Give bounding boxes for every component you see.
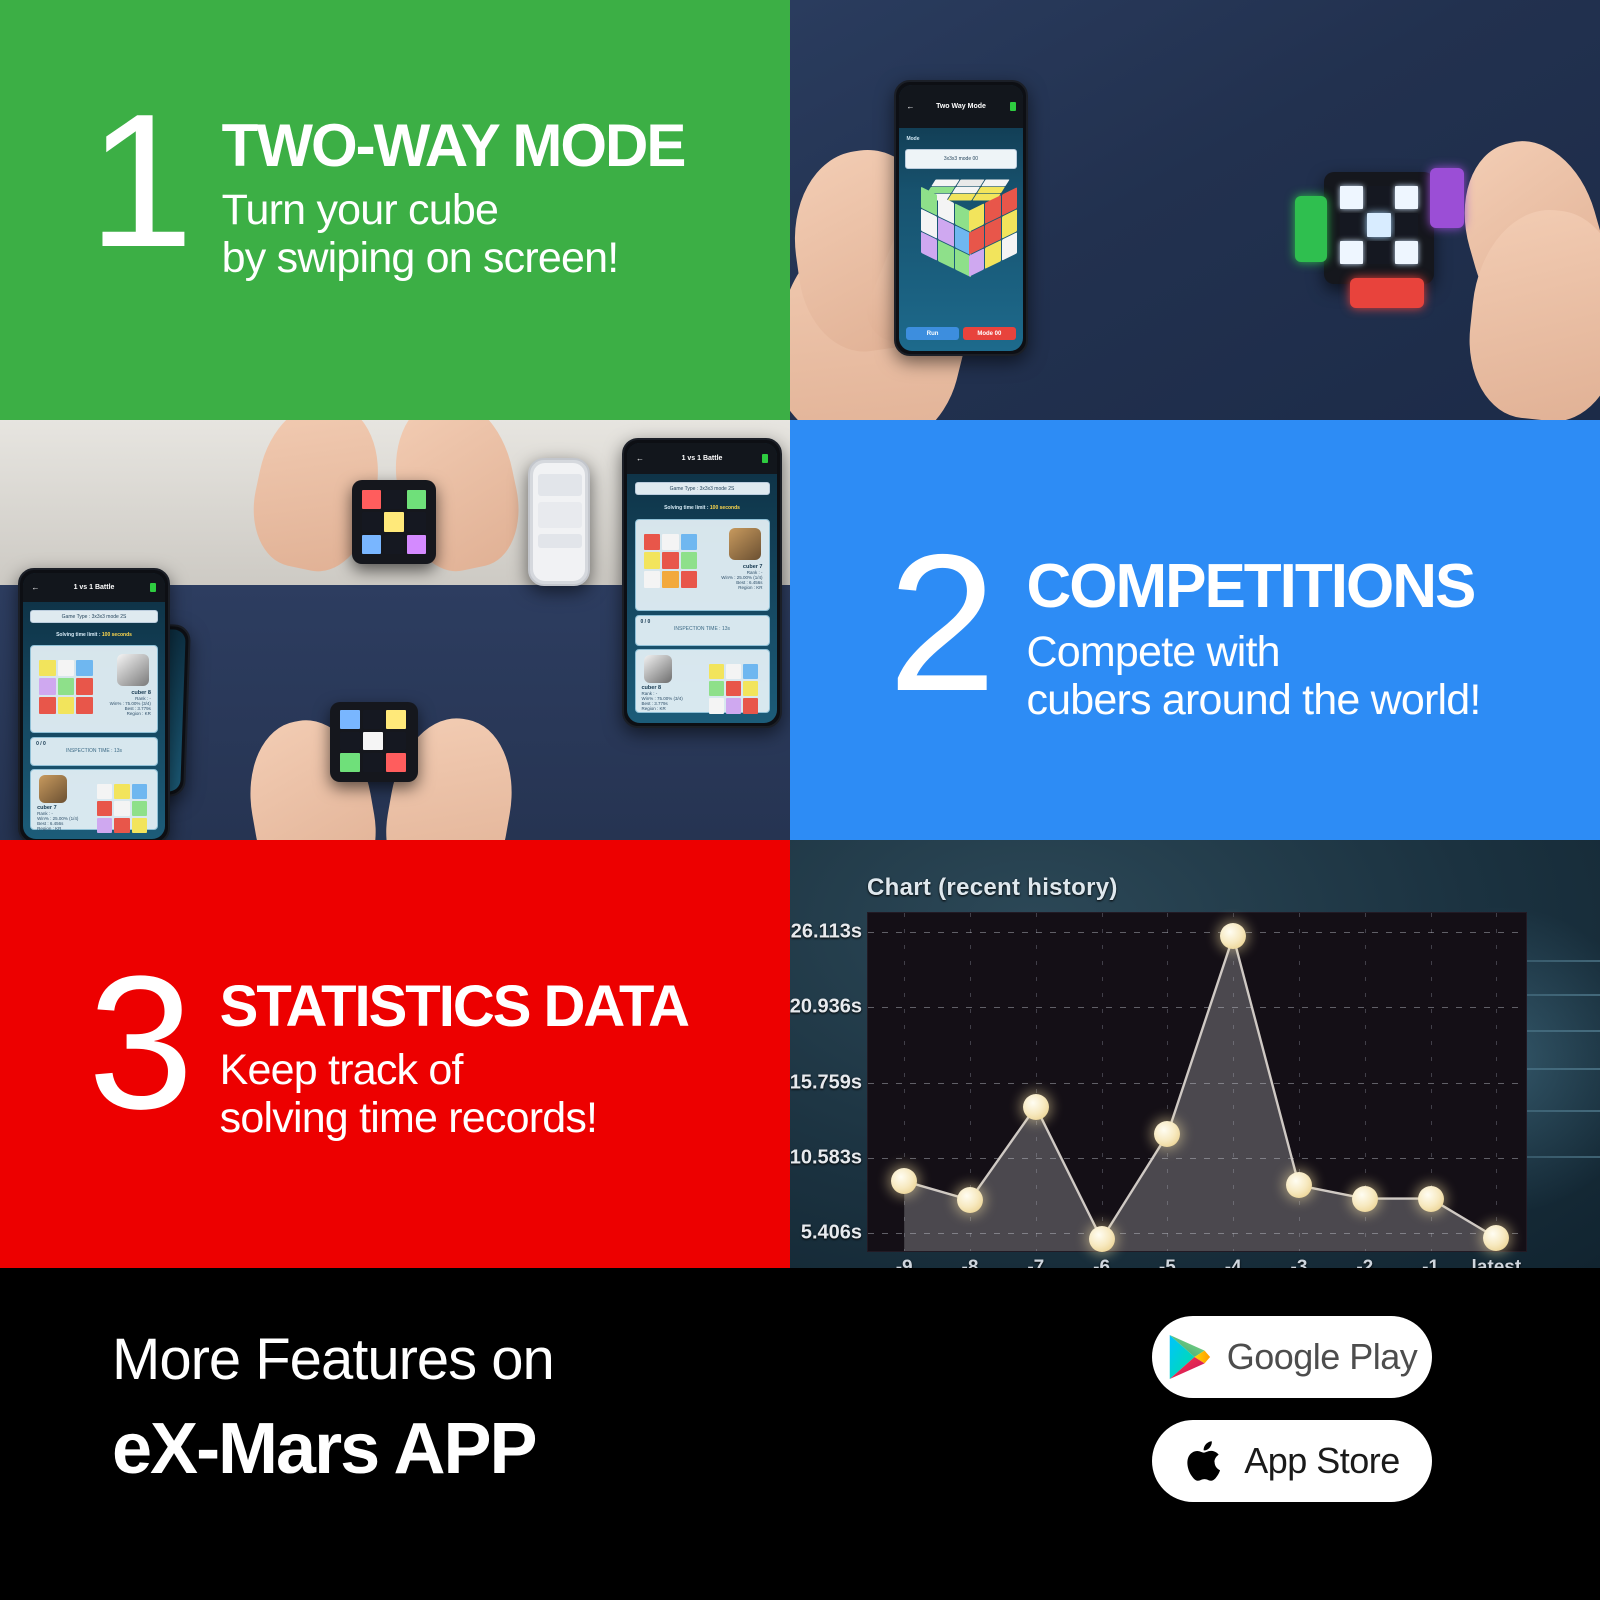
- battle-header: ← 1 vs 1 Battle: [627, 443, 777, 474]
- game-type-field: Game Type : 3x3x3 mode 2S: [30, 610, 158, 623]
- feature-block: 1 TWO-WAY MODE Turn your cube by swiping…: [88, 100, 684, 282]
- chart-x-tick-label: -2: [1356, 1257, 1373, 1268]
- smart-cube-top-leds: [362, 490, 426, 554]
- feature-text: COMPETITIONS Compete with cubers around …: [1026, 540, 1480, 724]
- time-limit-row: Solving time limit : 100 seconds: [627, 505, 777, 511]
- feature-block: 3 STATISTICS DATA Keep track of solving …: [88, 962, 688, 1142]
- phone-two-way-mode: ← Two Way Mode Mode 3x3x3 mode 00: [894, 80, 1028, 356]
- battery-icon: [1010, 102, 1016, 111]
- cuber-card-bottom[interactable]: cuber 7 Rank : - Win% : 25.00% (1/4) Bes…: [30, 769, 158, 830]
- cuber-region-bottom: Region : KR: [642, 706, 683, 711]
- cube-preview-bottom: [97, 784, 147, 834]
- cube-preview-top: [644, 534, 698, 588]
- chart-x-tick-label: -4: [1225, 1257, 1242, 1268]
- inspection-strip: 0 / 0 INSPECTION TIME : 13s: [30, 737, 158, 766]
- google-play-label: Google Play: [1227, 1336, 1418, 1378]
- feature-subtitle: Turn your cube by swiping on screen!: [222, 186, 685, 282]
- mode-button[interactable]: Mode 00: [963, 327, 1015, 340]
- phone-header-title: Two Way Mode: [936, 103, 986, 110]
- phone-screen-battle-left: ← 1 vs 1 Battle Game Type : 3x3x3 mode 2…: [23, 573, 165, 839]
- smart-cube-bottom: [330, 702, 418, 782]
- app-store-button[interactable]: App Store: [1152, 1420, 1432, 1502]
- google-play-button[interactable]: Google Play: [1152, 1316, 1432, 1398]
- avatar: [729, 528, 761, 560]
- cuber-card-bottom[interactable]: cuber 8 Rank : - Win% : 75.00% (3/4) Bes…: [635, 649, 770, 713]
- chart-x-tick-label: -1: [1422, 1257, 1439, 1268]
- smart-cube-side-red: [1350, 278, 1424, 308]
- battery-icon: [150, 583, 156, 592]
- inspection-label: INSPECTION TIME : 13s: [636, 626, 769, 632]
- cuber-card-top[interactable]: cuber 8 Rank : - Win% : 75.00% (3/4) Bes…: [30, 645, 158, 733]
- chart-card: Chart (recent history) 26.113s20.936s15.…: [825, 852, 1525, 1262]
- cuber-win-bottom: Win% : 25.00% (1/4): [37, 816, 78, 821]
- score-value: 0 / 0: [641, 619, 651, 625]
- chart-x-tick-label: -3: [1291, 1257, 1308, 1268]
- smart-cube-side-purple: [1430, 168, 1464, 228]
- cube-preview-top: [39, 660, 93, 714]
- cuber-card-top[interactable]: cuber 7 Rank : - Win% : 25.00% (1/4) Bes…: [635, 519, 770, 611]
- chart-data-point[interactable]: [957, 1187, 983, 1213]
- feature-text: STATISTICS DATA Keep track of solving ti…: [220, 962, 688, 1142]
- time-limit-value: 100 seconds: [710, 505, 740, 511]
- feature-text: TWO-WAY MODE Turn your cube by swiping o…: [222, 100, 685, 282]
- footer-line-1: More Features on: [112, 1326, 554, 1393]
- smart-cube-top: [352, 480, 436, 564]
- phone-battle-right: ← 1 vs 1 Battle Game Type : 3x3x3 mode 2…: [622, 438, 782, 728]
- google-play-icon: [1167, 1333, 1211, 1381]
- feature-title: COMPETITIONS: [1026, 556, 1480, 618]
- feature-subtitle: Keep track of solving time records!: [220, 1046, 688, 1142]
- chart-y-tick-label: 15.759s: [790, 1071, 862, 1094]
- chart-x-tick-label: -9: [896, 1257, 913, 1268]
- feature-subtitle-line2: solving time records!: [220, 1094, 688, 1142]
- footer-bar: More Features on eX-Mars APP: [0, 1268, 1600, 1600]
- photo-statistics-chart: Chart (recent history) 26.113s20.936s15.…: [790, 840, 1600, 1268]
- photo-two-way-mode: ← Two Way Mode Mode 3x3x3 mode 00: [790, 0, 1600, 420]
- inspection-strip: 0 / 0 INSPECTION TIME : 13s: [635, 615, 770, 646]
- chart-y-tick-label: 20.936s: [790, 996, 862, 1019]
- mode-input-value: 3x3x3 mode 00: [944, 156, 978, 162]
- feature-subtitle-line1: Compete with: [1026, 628, 1480, 676]
- game-type-value: Game Type : 3x3x3 mode 2S: [670, 486, 735, 492]
- smart-cube-bottom-leds: [340, 710, 406, 772]
- chart-y-tick-label: 10.583s: [790, 1147, 862, 1170]
- cube-preview-bottom: [709, 664, 759, 714]
- feature-title: TWO-WAY MODE: [222, 116, 685, 176]
- photo-one-vs-one-battle: ← 1 vs 1 Battle Game Type : 3x3x3 mode 2…: [0, 420, 790, 840]
- chart-y-tick-label: 5.406s: [801, 1222, 862, 1245]
- feature-number: 1: [88, 100, 188, 263]
- phone-catalog: [528, 458, 590, 586]
- poster-root: 1 TWO-WAY MODE Turn your cube by swiping…: [0, 0, 1600, 1600]
- score-value: 0 / 0: [36, 741, 46, 747]
- chart-x-tick-label: -6: [1093, 1257, 1110, 1268]
- chart-plot-area[interactable]: 26.113s20.936s15.759s10.583s5.406s-9-8-7…: [867, 912, 1527, 1252]
- phone-app-header: ← Two Way Mode: [899, 85, 1023, 128]
- mode-field-label: Mode: [906, 136, 919, 142]
- cuber-region-bottom: Region : KR: [37, 826, 78, 831]
- chart-x-tick-label: -5: [1159, 1257, 1176, 1268]
- feature-subtitle-line2: cubers around the world!: [1026, 676, 1480, 724]
- avatar: [644, 655, 672, 683]
- cuber-region-top: Region : KR: [721, 585, 762, 590]
- back-arrow-icon[interactable]: ←: [906, 102, 914, 111]
- smart-cube-device: [1324, 172, 1434, 284]
- chart-x-tick-label: latest: [1472, 1257, 1522, 1268]
- chart-data-point[interactable]: [1418, 1186, 1444, 1212]
- cuber-win-top: Win% : 25.00% (1/4): [721, 575, 762, 580]
- feature-subtitle-line1: Keep track of: [220, 1046, 688, 1094]
- chart-title: Chart (recent history): [867, 874, 1118, 902]
- feature-panel-two-way-mode: 1 TWO-WAY MODE Turn your cube by swiping…: [0, 0, 790, 420]
- time-limit-label: Solving time limit :: [664, 505, 708, 511]
- feature-block: 2 COMPETITIONS Compete with cubers aroun…: [888, 540, 1481, 724]
- phone-button-row: Run Mode 00: [906, 327, 1015, 340]
- battle-header-title: 1 vs 1 Battle: [682, 455, 723, 462]
- app-store-label: App Store: [1244, 1440, 1400, 1482]
- chart-x-tick-label: -7: [1027, 1257, 1044, 1268]
- feature-panel-statistics-data: 3 STATISTICS DATA Keep track of solving …: [0, 840, 790, 1268]
- game-type-field: Game Type : 3x3x3 mode 2S: [635, 482, 770, 495]
- smart-cube-leds: [1340, 186, 1418, 264]
- smart-cube-side-green: [1295, 196, 1327, 262]
- feature-subtitle-line1: Turn your cube: [222, 186, 685, 234]
- battery-icon: [762, 454, 768, 463]
- feature-number: 3: [88, 962, 188, 1125]
- apple-icon: [1184, 1435, 1228, 1487]
- avatar: [117, 654, 149, 686]
- chart-x-tick-label: -8: [962, 1257, 979, 1268]
- chart-data-point[interactable]: [1352, 1186, 1378, 1212]
- run-button[interactable]: Run: [906, 327, 958, 340]
- chart-data-point[interactable]: [1089, 1226, 1115, 1252]
- mode-input-field[interactable]: 3x3x3 mode 00: [905, 149, 1017, 169]
- feature-panel-competitions: 2 COMPETITIONS Compete with cubers aroun…: [790, 420, 1600, 840]
- cuber-region-top: Region : KR: [110, 711, 151, 716]
- phone-screen: ← Two Way Mode Mode 3x3x3 mode 00: [899, 85, 1023, 351]
- avatar: [39, 775, 67, 803]
- footer-line-2: eX-Mars APP: [112, 1408, 536, 1490]
- back-arrow-icon[interactable]: ←: [32, 583, 40, 592]
- time-limit-label: Solving time limit :: [56, 632, 100, 638]
- chart-data-point[interactable]: [1023, 1094, 1049, 1120]
- cube-illustration[interactable]: [915, 173, 1019, 285]
- feature-number: 2: [888, 540, 990, 708]
- phone-battle-left: ← 1 vs 1 Battle Game Type : 3x3x3 mode 2…: [18, 568, 170, 840]
- battle-header-title: 1 vs 1 Battle: [74, 584, 115, 591]
- cube-face-right: [969, 187, 1017, 276]
- time-limit-row: Solving time limit : 100 seconds: [23, 632, 165, 638]
- phone-screen-battle-right: ← 1 vs 1 Battle Game Type : 3x3x3 mode 2…: [627, 443, 777, 723]
- inspection-label: INSPECTION TIME : 13s: [31, 748, 157, 754]
- time-limit-value: 100 seconds: [102, 632, 132, 638]
- feature-subtitle-line2: by swiping on screen!: [222, 234, 685, 282]
- feature-subtitle: Compete with cubers around the world!: [1026, 628, 1480, 724]
- game-type-value: Game Type : 3x3x3 mode 2S: [62, 614, 127, 620]
- back-arrow-icon[interactable]: ←: [636, 454, 644, 463]
- chart-y-tick-label: 26.113s: [791, 920, 862, 943]
- feature-title: STATISTICS DATA: [220, 978, 688, 1036]
- battle-header: ← 1 vs 1 Battle: [23, 573, 165, 602]
